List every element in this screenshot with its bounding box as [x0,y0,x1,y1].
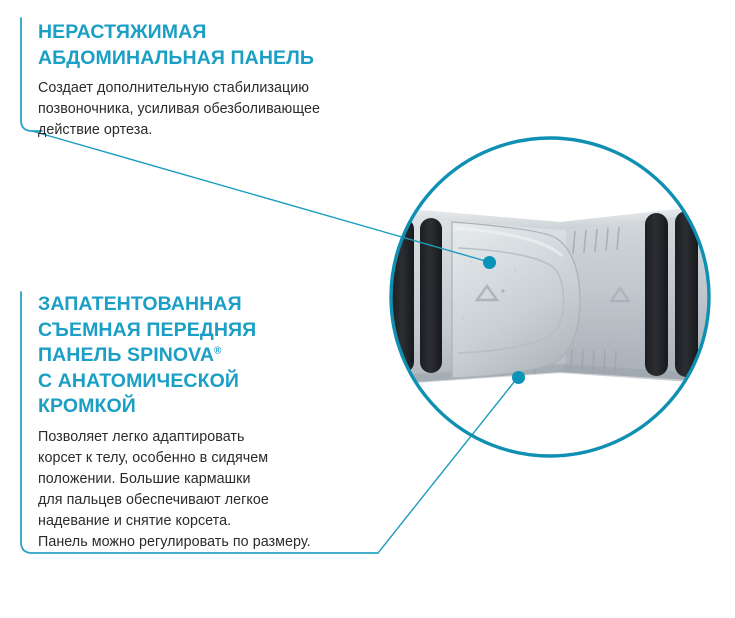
callout-2-leader-line [378,377,518,553]
callout-2-body-line-4: для пальцев обеспечивают легкое [38,492,269,508]
callout-2-body-line-3: положении. Большие кармашки [38,471,251,487]
callout-2-title: ЗАПАТЕНТОВАННАЯ СЪЕМНАЯ ПЕРЕДНЯЯ ПАНЕЛЬ … [38,292,383,420]
hotspot-abdominal-panel [483,256,496,269]
callout-2-title-line-2: СЪЕМНАЯ ПЕРЕДНЯЯ [38,319,256,341]
callout-1-leader-line [32,131,489,262]
registered-trademark-mark: ® [214,346,221,357]
callout-1-title-line-1: НЕРАСТЯЖИМАЯ [38,21,206,43]
infographic-page: НЕРАСТЯЖИМАЯ АБДОМИНАЛЬНАЯ ПАНЕЛЬ Создае… [0,0,735,618]
callout-2-title-line-3: ПАНЕЛЬ SPINOVA [38,344,214,366]
callout-spinova-front-panel: ЗАПАТЕНТОВАННАЯ СЪЕМНАЯ ПЕРЕДНЯЯ ПАНЕЛЬ … [38,292,383,553]
callout-2-title-line-4: С АНАТОМИЧЕСКОЙ [38,370,239,392]
callout-2-title-line-5: КРОМКОЙ [38,395,136,417]
callout-1-body: Создает дополнительную стабилизацию позв… [38,78,388,141]
callout-2-body-line-2: корсет к телу, особенно в сидячем [38,450,268,466]
hotspot-front-panel-edge [512,371,525,384]
callout-abdominal-panel: НЕРАСТЯЖИМАЯ АБДОМИНАЛЬНАЯ ПАНЕЛЬ Создае… [38,20,388,141]
callout-2-title-line-1: ЗАПАТЕНТОВАННАЯ [38,293,242,315]
callout-1-body-line-2: позвоночника, усиливая обезболивающее [38,101,320,117]
callout-1-title: НЕРАСТЯЖИМАЯ АБДОМИНАЛЬНАЯ ПАНЕЛЬ [38,20,388,71]
product-circle-ring [391,138,709,456]
callout-2-body: Позволяет легко адаптировать корсет к те… [38,427,383,553]
callout-1-title-line-2: АБДОМИНАЛЬНАЯ ПАНЕЛЬ [38,47,314,69]
callout-1-body-line-1: Создает дополнительную стабилизацию [38,80,309,96]
callout-2-body-line-5: надевание и снятие корсета. [38,513,231,529]
callout-1-body-line-3: действие ортеза. [38,122,152,138]
callout-2-body-line-1: Позволяет легко адаптировать [38,429,245,445]
callout-2-body-line-6: Панель можно регулировать по размеру. [38,534,311,550]
